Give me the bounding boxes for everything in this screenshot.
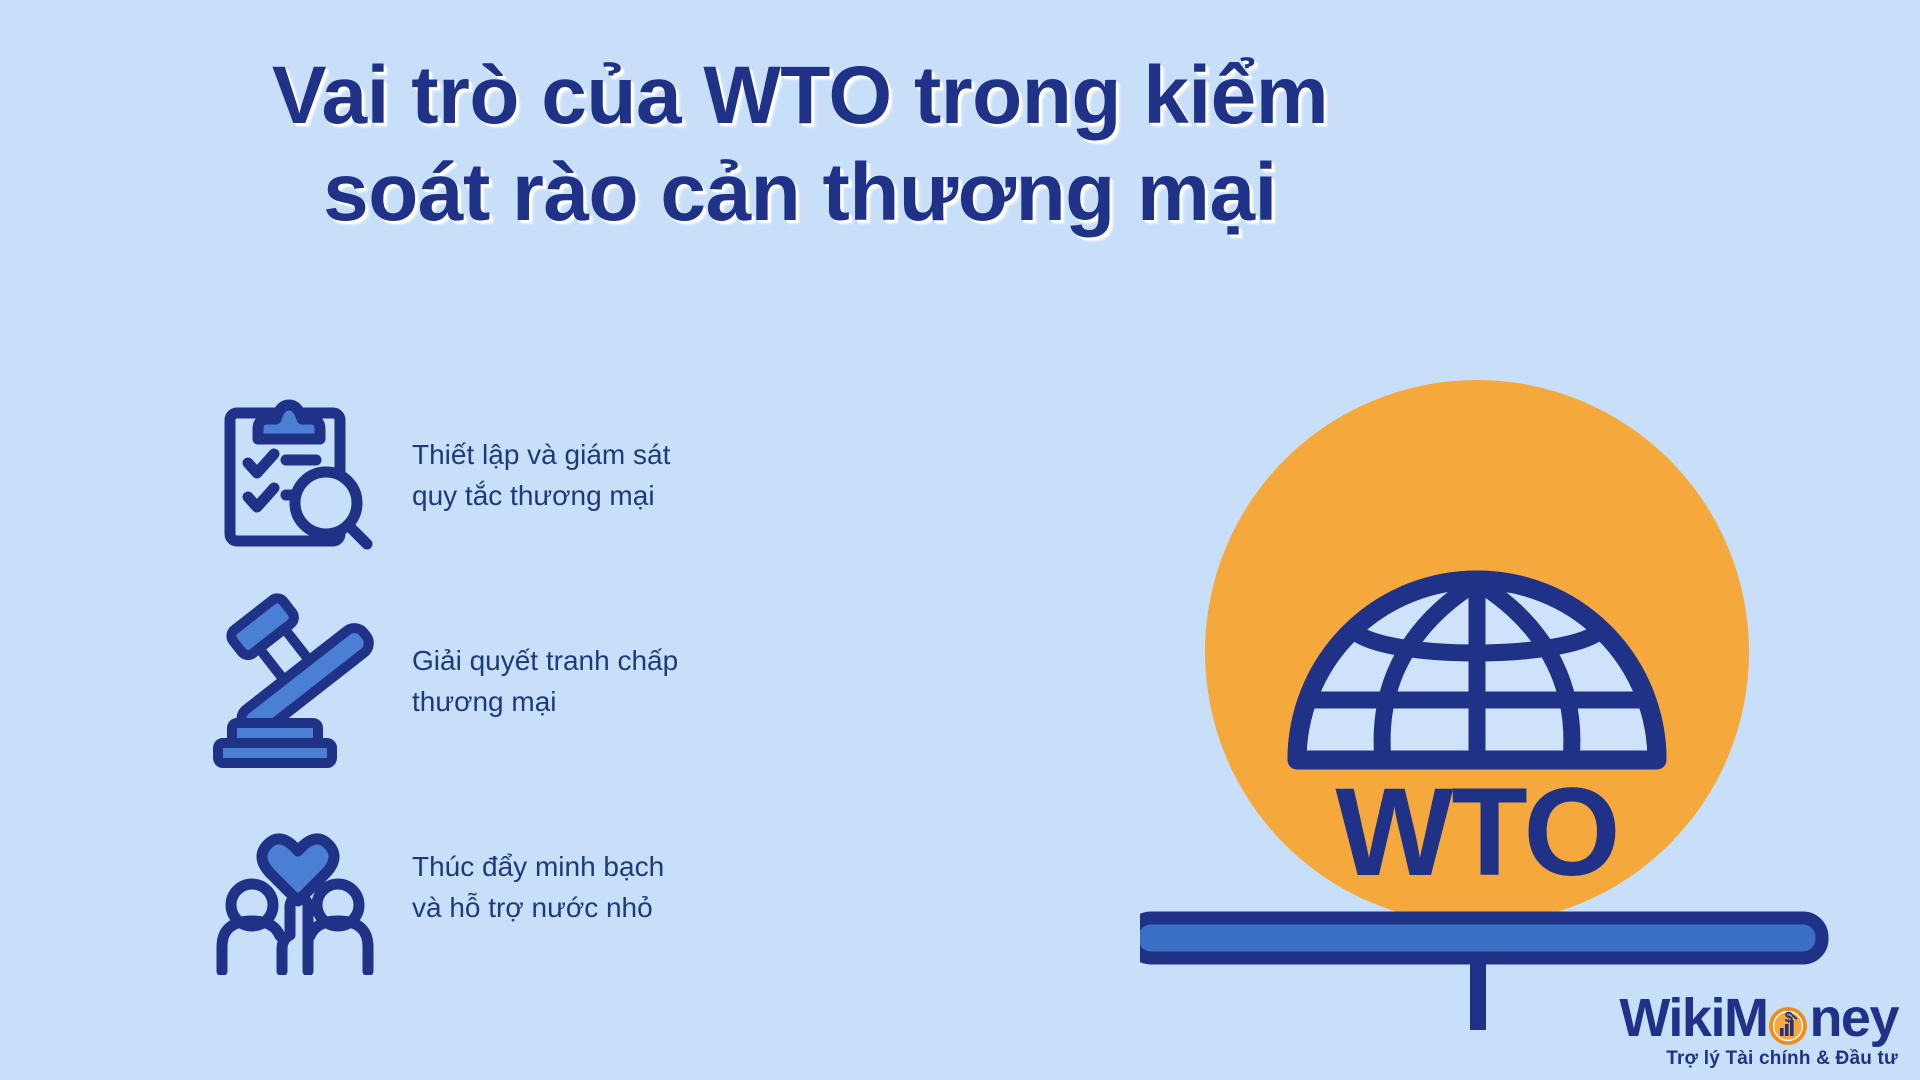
feature-label-disputes: Giải quyết tranh chấp thương mại — [412, 640, 678, 723]
feature-line-1: Giải quyết tranh chấp — [412, 645, 678, 676]
page-title: Vai trò của WTO trong kiểm soát rào cản … — [0, 48, 1600, 242]
logo-name-part2: ney — [1809, 991, 1898, 1045]
wto-emblem: WTO — [1140, 330, 1840, 1030]
logo-tagline: Trợ lý Tài chính & Đầu tư — [1619, 1049, 1898, 1068]
feature-item-transparency: Thúc đẩy minh bạch và hỗ trợ nước nhỏ — [210, 784, 850, 990]
clipboard-magnifier-icon — [210, 387, 386, 563]
feature-line-2: và hỗ trợ nước nhỏ — [412, 887, 664, 928]
gavel-icon — [210, 593, 386, 769]
feature-line-1: Thúc đẩy minh bạch — [412, 851, 664, 882]
feature-line-1: Thiết lập và giám sát — [412, 439, 670, 470]
feature-label-rules: Thiết lập và giám sát quy tắc thương mại — [412, 434, 670, 517]
feature-line-2: thương mại — [412, 681, 678, 722]
feature-label-transparency: Thúc đẩy minh bạch và hỗ trợ nước nhỏ — [412, 846, 664, 929]
logo-name-part1: WikiM — [1619, 991, 1767, 1045]
feature-item-disputes: Giải quyết tranh chấp thương mại — [210, 578, 850, 784]
wto-wordmark: WTO — [1335, 763, 1618, 902]
logo-wordmark: WikiM $ ney — [1619, 991, 1898, 1045]
wikimoney-logo: WikiM $ ney Trợ lý Tài chính & Đầu tư — [1619, 991, 1898, 1068]
people-heart-icon — [210, 799, 386, 975]
title-line-2: soát rào cản thương mại — [0, 145, 1600, 242]
feature-item-rules: Thiết lập và giám sát quy tắc thương mại — [210, 372, 850, 578]
feature-line-2: quy tắc thương mại — [412, 475, 670, 516]
feature-list: Thiết lập và giám sát quy tắc thương mại… — [210, 372, 850, 990]
title-line-1: Vai trò của WTO trong kiểm — [0, 48, 1600, 145]
coin-dollar-chart-icon: $ — [1768, 1001, 1808, 1041]
